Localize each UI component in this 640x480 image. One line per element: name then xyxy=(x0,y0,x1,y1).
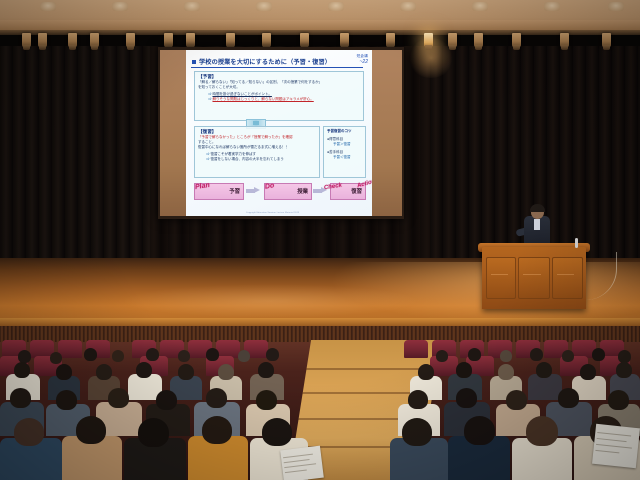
review-box: 【復習】 「予習で解らなかった」ところが「授業で解ったか」を確認 すること。 復… xyxy=(194,126,320,178)
audience-head xyxy=(464,416,495,445)
audience-head xyxy=(266,348,279,361)
flow-label-plan: 予習 xyxy=(229,187,240,195)
screen-matte-left xyxy=(160,50,186,216)
stage-light xyxy=(560,33,569,47)
audience-head xyxy=(138,418,169,447)
pdca-flow: 予習 Plan 授業 Do 復習 Check Action xyxy=(194,181,364,205)
presenter-hair xyxy=(530,204,545,212)
audience-head xyxy=(500,350,512,362)
audience-head xyxy=(202,416,232,444)
audience-head xyxy=(262,418,292,446)
review-line-1: 「予習で解らなかった」ところが「授業で解ったか」を確認 xyxy=(198,135,293,139)
tips-rule-1: 予習＞復習 xyxy=(327,142,362,147)
aisle-step xyxy=(306,368,436,370)
audience-head xyxy=(50,352,62,364)
slide-footer: Copyright Education Seminar Lecture Mate… xyxy=(246,212,299,214)
audience-head xyxy=(592,348,605,361)
audience-head xyxy=(562,350,574,362)
audience-head xyxy=(56,390,77,410)
microphone-icon xyxy=(575,238,578,248)
stage-light xyxy=(340,33,349,47)
ceiling-recess-light xyxy=(184,2,200,11)
audience-head xyxy=(580,364,596,380)
audience-head xyxy=(256,390,277,410)
review-bullet-1: 復習こそが着実学力を伸ばす xyxy=(210,152,256,156)
audience-head xyxy=(14,418,44,446)
flow-label-do: 授業 xyxy=(297,187,308,195)
audience-head xyxy=(258,362,274,378)
stage-light xyxy=(262,33,271,47)
stage-curtain-left xyxy=(0,46,150,261)
floor-reflection-secondary xyxy=(120,284,420,318)
audience-head xyxy=(530,348,543,361)
stage-light xyxy=(474,33,483,47)
audience-head xyxy=(14,362,30,378)
stage-light xyxy=(300,33,309,47)
projected-slide: 短倉縄 ~22 学校の授業を大切にするために（予習・復習） 【予習】 「解る／解… xyxy=(186,50,372,216)
stage-light xyxy=(226,33,235,47)
stage-light xyxy=(68,33,77,47)
audience-head xyxy=(456,388,477,408)
audience-head xyxy=(218,364,234,380)
preview-box: 【予習】 「解る／解らない」「知ってる／知らない」の区別、「次の授業で何をするか… xyxy=(194,71,364,121)
stage-light xyxy=(164,33,173,47)
tips-label-2: 苦手科目 xyxy=(329,150,343,154)
slide-page-tag: 短倉縄 ~22 xyxy=(357,54,368,65)
audience-head xyxy=(146,348,159,361)
ceiling-recess-light xyxy=(608,2,624,11)
bullet-square-icon xyxy=(192,60,196,64)
seat xyxy=(404,340,428,358)
preview-bullet-1: 時間を掛け過ぎないことがポイント。 xyxy=(212,92,271,96)
audience-head xyxy=(206,348,219,361)
lectern xyxy=(482,247,586,309)
tips-label-1: 得意科目 xyxy=(329,137,343,141)
ceiling-recess-light xyxy=(112,2,128,11)
stage-light xyxy=(512,33,521,47)
lectern-panel xyxy=(552,257,583,299)
ceiling-recess-light xyxy=(328,2,344,11)
audience-head xyxy=(238,350,250,362)
ceiling-recess-light xyxy=(40,2,56,11)
page-tag-number: ~22 xyxy=(357,59,368,65)
stage-light xyxy=(22,33,31,47)
audience-head xyxy=(206,388,227,408)
flow-script-do: Do xyxy=(265,182,275,190)
tips-rule-2: 予習＜復習 xyxy=(327,155,362,160)
audience-head xyxy=(84,348,97,361)
presenter-shirt xyxy=(534,219,540,230)
preview-bullet-mark: ⇒ xyxy=(208,92,212,96)
stage-light xyxy=(386,33,395,47)
audience-head xyxy=(112,350,124,362)
lectern-panel xyxy=(518,257,550,299)
audience-head xyxy=(402,418,432,446)
audience-head xyxy=(616,362,632,378)
audience-head xyxy=(418,364,434,380)
printed-handout xyxy=(592,424,640,468)
title-underline xyxy=(191,67,363,68)
audience-head xyxy=(408,390,428,409)
printed-handout xyxy=(280,446,324,480)
slide-title-text: 学校の授業を大切にするために（予習・復習） xyxy=(199,59,331,66)
audience-head xyxy=(18,350,31,363)
stage-light xyxy=(126,33,135,47)
stage-light xyxy=(448,33,457,47)
stage-light xyxy=(38,33,47,47)
preview-line-2: を知っておくことが大切。 xyxy=(198,85,360,90)
audience-head xyxy=(506,390,527,410)
review-bullet-mark-2: ⇒ xyxy=(206,157,210,161)
ceiling-recess-light xyxy=(472,2,488,11)
audience-head xyxy=(536,362,552,378)
review-bullet-mark: ⇒ xyxy=(206,152,210,156)
slide-title: 学校の授業を大切にするために（予習・復習） xyxy=(192,57,342,66)
preview-bullet-mark-2: ⇒ xyxy=(208,97,212,101)
audience-head xyxy=(178,364,194,380)
preview-bullet-2: 解りそうな問題はじっくりと、解らない問題はアキラメが肝心。 xyxy=(212,97,313,101)
audience-head xyxy=(498,364,514,380)
ceiling-recess-light xyxy=(400,2,416,11)
auditorium-photo: 短倉縄 ~22 学校の授業を大切にするために（予習・復習） 【予習】 「解る／解… xyxy=(0,0,640,480)
audience-head xyxy=(156,390,177,410)
audience-area xyxy=(0,326,640,480)
review-line-3: 復習中心になれば解らない箇所が雪だるま式に増える！！ xyxy=(198,145,316,150)
flow-arrow-1 xyxy=(246,187,260,194)
audience-head xyxy=(96,364,112,380)
audience-head xyxy=(436,350,448,362)
audience-head xyxy=(76,416,106,444)
stage-light xyxy=(90,33,99,47)
tips-box: 予習復習のコツ ●得意科目 予習＞復習 ●苦手科目 予習＜復習 xyxy=(323,126,366,178)
audience-head xyxy=(108,388,129,408)
audience-head xyxy=(526,416,558,446)
audience-head xyxy=(608,390,629,410)
review-bullet-2: 復習をしない場合、内容の大半を忘れてしまう xyxy=(210,157,283,161)
lectern-panel xyxy=(486,257,516,299)
ceiling-recess-light xyxy=(256,2,272,11)
audience-head xyxy=(56,364,72,380)
ceiling-recess-light xyxy=(544,2,560,11)
audience-head xyxy=(178,350,190,362)
stage-light xyxy=(186,33,195,47)
audience-head xyxy=(558,388,579,408)
tips-heading: 予習復習のコツ xyxy=(327,129,362,134)
audience-head xyxy=(10,388,31,408)
audience-head xyxy=(136,362,152,378)
audience-head xyxy=(456,362,472,378)
audience-head xyxy=(468,348,481,361)
screen-matte-right xyxy=(372,50,402,216)
stage-light xyxy=(602,33,611,47)
